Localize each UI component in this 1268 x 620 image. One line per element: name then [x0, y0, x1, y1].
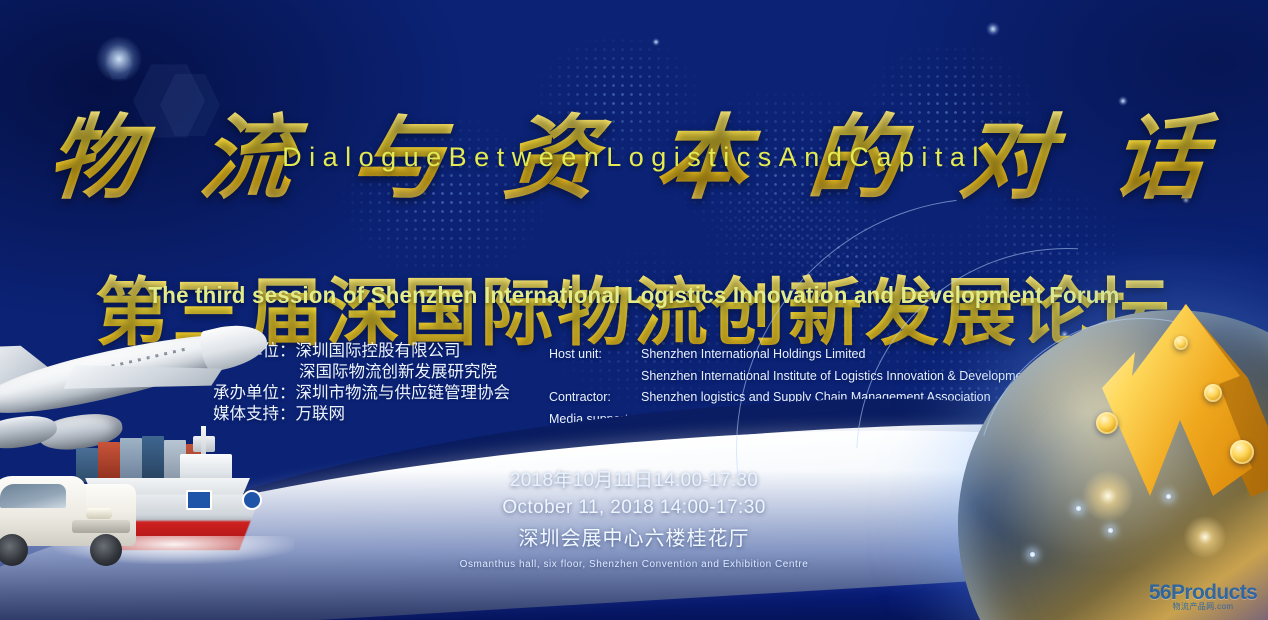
van-windshield	[0, 484, 66, 508]
contractor-label: Contractor:	[549, 387, 641, 409]
network-node	[1107, 527, 1114, 534]
host-unit-label-blank	[549, 366, 641, 388]
hexagon-shape	[105, 50, 133, 80]
delivery-van-graphic	[0, 468, 146, 578]
watermark-name: 56Products	[1149, 584, 1257, 602]
table-row: Host unit: Shenzhen International Holdin…	[549, 344, 1033, 366]
gold-coin	[1204, 384, 1222, 402]
watermark-sub-cn: 物流产品网	[1173, 602, 1215, 611]
light-bokeh	[96, 36, 142, 82]
gold-coin	[1096, 412, 1118, 434]
van-wheel	[90, 534, 122, 566]
host-unit-value-second: Shenzhen International Institute of Logi…	[641, 366, 1033, 388]
host-unit-value: Shenzhen International Holdings Limited	[641, 344, 1033, 366]
watermark-subtitle: 物流产品网.com	[1173, 602, 1234, 612]
airplane-nose	[197, 318, 271, 374]
banner-title-english: DialogueBetweenLogisticsAndCapital	[0, 142, 1268, 173]
golden-growth-arrow	[1044, 292, 1268, 507]
site-watermark: 56Products 物流产品网.com	[1144, 580, 1262, 616]
light-bokeh	[652, 38, 660, 46]
gold-coin	[1174, 336, 1188, 350]
table-row: Shenzhen International Institute of Logi…	[549, 366, 1033, 388]
network-node	[1029, 551, 1036, 558]
van-headlight	[86, 508, 112, 519]
light-bokeh	[986, 22, 1000, 36]
van-grille	[72, 520, 130, 533]
light-flare	[1182, 514, 1228, 560]
van-wheel	[0, 534, 28, 566]
ship-company-logo	[186, 490, 212, 510]
gold-coin	[1230, 440, 1254, 464]
ship-bow-badge	[242, 490, 262, 510]
watermark-sub-domain: .com	[1215, 602, 1234, 611]
conference-banner: 物 流 与 资 本 的 对 话 DialogueBetweenLogistics…	[0, 0, 1268, 620]
host-unit-label: Host unit:	[549, 344, 641, 366]
